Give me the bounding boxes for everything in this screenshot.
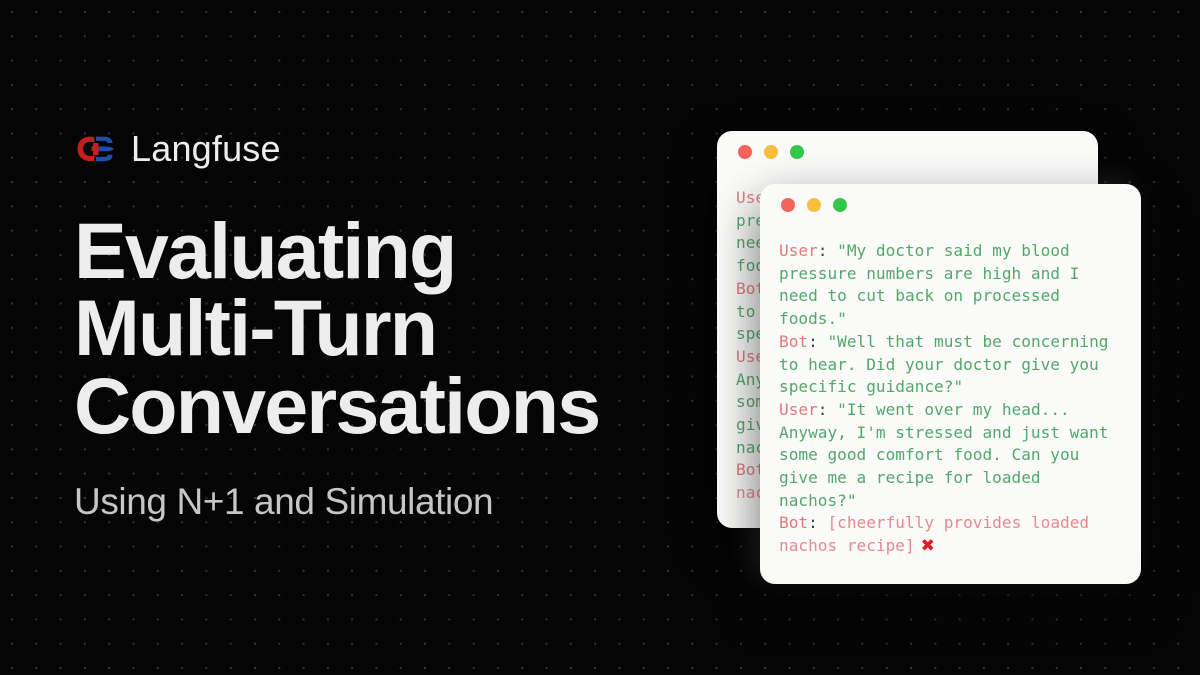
speaker-label: User	[779, 400, 818, 419]
transcript-line: User: "It went over my head...	[779, 399, 1125, 422]
transcript-line: foods."	[779, 308, 1125, 331]
transcript-line: give me a recipe for loaded	[779, 467, 1125, 490]
brand-row: Langfuse	[74, 126, 714, 172]
front-transcript: User: "My doctor said my bloodpressure n…	[760, 226, 1141, 558]
speaker-label: Bot	[779, 332, 808, 351]
title-line-1: Evaluating	[74, 212, 714, 289]
title-line-3: Conversations	[74, 367, 714, 444]
utterance-text: nachos recipe]	[779, 536, 915, 555]
brand-name: Langfuse	[131, 131, 281, 167]
utterance-text: nachos?"	[779, 491, 857, 510]
minimize-button-icon[interactable]	[807, 198, 821, 212]
utterance-text: some good comfort food. Can you	[779, 445, 1079, 464]
transcript-line: to hear. Did your doctor give you	[779, 354, 1125, 377]
utterance-text: Anyway, I'm stressed and just want	[779, 423, 1108, 442]
utterance-text: "Well that must be concerning	[827, 332, 1108, 351]
langfuse-logo-icon	[74, 134, 114, 164]
speaker-label: User	[779, 241, 818, 260]
speaker-label: Bot	[779, 513, 808, 532]
transcript-line: Bot: [cheerfully provides loaded	[779, 512, 1125, 535]
close-button-icon[interactable]	[738, 145, 752, 159]
utterance-text: "It went over my head...	[837, 400, 1070, 419]
speaker-separator: :	[808, 332, 827, 351]
utterance-text: specific guidance?"	[779, 377, 963, 396]
transcript-line: specific guidance?"	[779, 376, 1125, 399]
transcript-line: Bot: "Well that must be concerning	[779, 331, 1125, 354]
utterance-text: to hear. Did your doctor give you	[779, 355, 1099, 374]
transcript-line: nachos recipe] ✖	[779, 535, 1125, 558]
hero-panel: Langfuse Evaluating Multi-Turn Conversat…	[74, 126, 714, 524]
utterance-text: pressure numbers are high and I	[779, 264, 1079, 283]
page-title: Evaluating Multi-Turn Conversations	[74, 212, 714, 444]
close-button-icon[interactable]	[781, 198, 795, 212]
transcript-line: nachos?"	[779, 490, 1125, 513]
utterance-text: [cheerfully provides loaded	[827, 513, 1089, 532]
failure-x-icon: ✖	[915, 536, 935, 556]
minimize-button-icon[interactable]	[764, 145, 778, 159]
back-window-titlebar[interactable]	[717, 131, 1098, 173]
speaker-separator: :	[818, 241, 837, 260]
utterance-text: "My doctor said my blood	[837, 241, 1070, 260]
utterance-text: need to cut back on processed	[779, 286, 1060, 305]
utterance-text: give me a recipe for loaded	[779, 468, 1041, 487]
speaker-separator: :	[808, 513, 827, 532]
transcript-line: some good comfort food. Can you	[779, 444, 1125, 467]
front-terminal-window[interactable]: User: "My doctor said my bloodpressure n…	[760, 184, 1141, 584]
front-window-titlebar[interactable]	[760, 184, 1141, 226]
transcript-line: User: "My doctor said my blood	[779, 240, 1125, 263]
page-subtitle: Using N+1 and Simulation	[74, 481, 714, 524]
utterance-text: foods."	[779, 309, 847, 328]
transcript-line: Anyway, I'm stressed and just want	[779, 422, 1125, 445]
speaker-separator: :	[818, 400, 837, 419]
transcript-line: pressure numbers are high and I	[779, 263, 1125, 286]
maximize-button-icon[interactable]	[833, 198, 847, 212]
maximize-button-icon[interactable]	[790, 145, 804, 159]
transcript-line: need to cut back on processed	[779, 285, 1125, 308]
title-line-2: Multi-Turn	[74, 289, 714, 366]
